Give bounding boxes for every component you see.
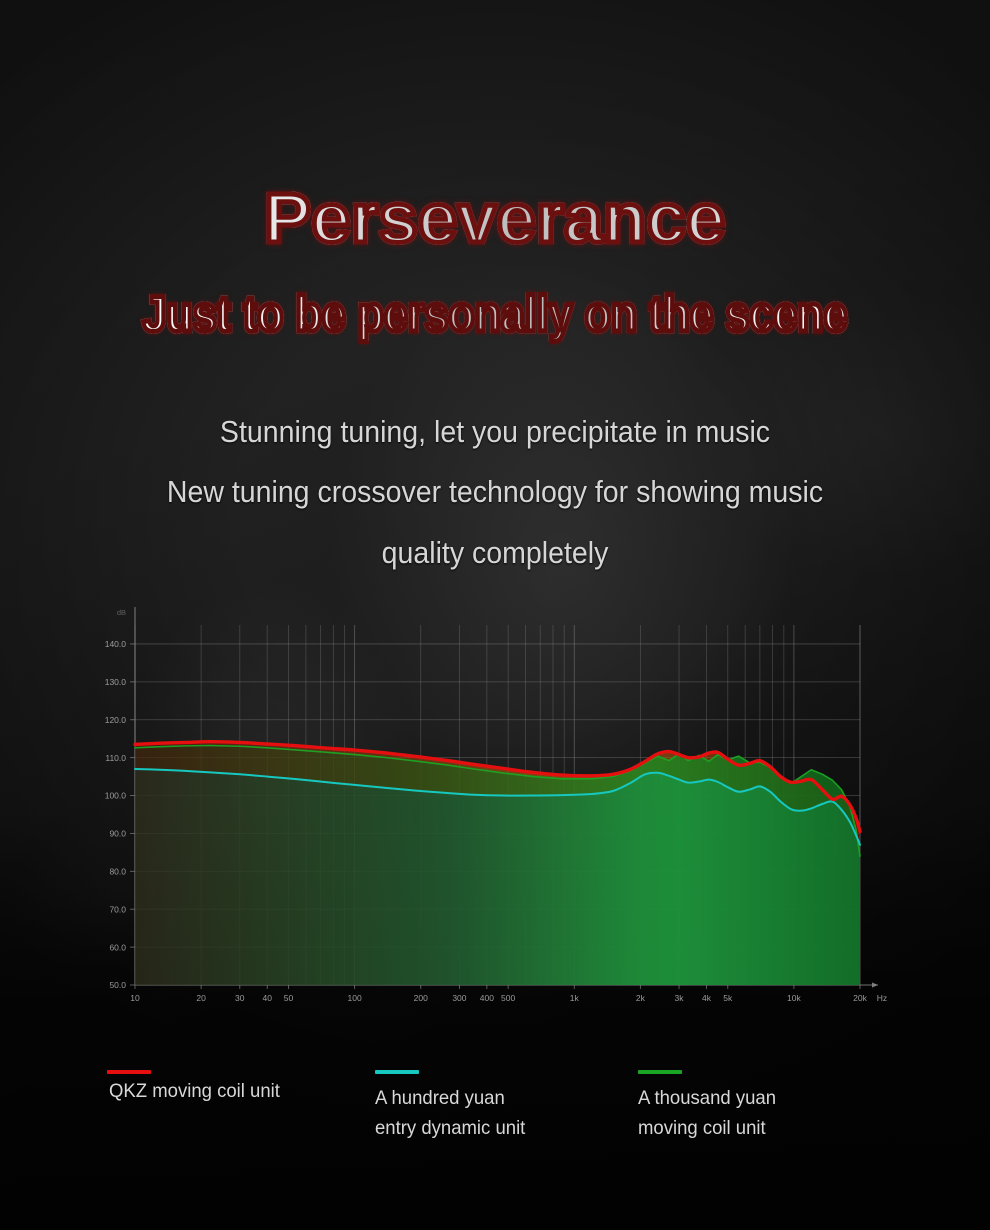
legend-swatch-red [107, 1070, 151, 1074]
svg-text:400: 400 [480, 993, 494, 1003]
legend-item-qkz-moving-coil-unit: QKZ moving coil unit [107, 1070, 287, 1113]
svg-text:3k: 3k [675, 993, 685, 1003]
svg-text:500: 500 [501, 993, 515, 1003]
svg-text:10k: 10k [787, 993, 801, 1003]
svg-text:5k: 5k [723, 993, 733, 1003]
frequency-response-svg: 140.0130.0120.0110.0100.090.080.070.060.… [95, 588, 895, 1043]
legend-swatch-cyan [375, 1070, 419, 1074]
svg-text:130.0: 130.0 [105, 677, 127, 687]
svg-text:90.0: 90.0 [109, 829, 126, 839]
svg-text:40: 40 [262, 993, 272, 1003]
chart-legend: QKZ moving coil unit A hundred yuan entr… [95, 1065, 955, 1185]
svg-text:120.0: 120.0 [105, 715, 127, 725]
svg-text:100.0: 100.0 [105, 791, 127, 801]
svg-text:20k: 20k [853, 993, 867, 1003]
svg-text:110.0: 110.0 [105, 753, 126, 763]
svg-text:140.0: 140.0 [105, 639, 127, 649]
product-marketing-page: { "hero": { "title": "Perseverance", "su… [0, 0, 990, 1230]
description-line-2: New tuning crossover technology for show… [40, 462, 951, 522]
legend-label-qkz: QKZ moving coil unit [109, 1076, 280, 1106]
svg-text:10: 10 [130, 993, 140, 1003]
svg-text:50.0: 50.0 [109, 980, 126, 990]
svg-text:200: 200 [414, 993, 428, 1003]
svg-text:4k: 4k [702, 993, 712, 1003]
legend-swatch-green [638, 1070, 682, 1074]
svg-text:60.0: 60.0 [109, 942, 126, 952]
legend-item-thousand-yuan-moving-coil-unit: A thousand yuan moving coil unit [638, 1070, 783, 1143]
description-line-1: Stunning tuning, let you precipitate in … [40, 402, 951, 462]
svg-text:1k: 1k [570, 993, 580, 1003]
page-subtitle: Just to be personally on the scene [69, 288, 920, 341]
legend-item-hundred-yuan-entry-dynamic-unit: A hundred yuan entry dynamic unit [375, 1070, 533, 1143]
svg-text:50: 50 [284, 993, 294, 1003]
page-title: Perseverance [0, 183, 990, 253]
legend-label-hundred-yuan: A hundred yuan entry dynamic unit [375, 1083, 525, 1143]
svg-text:100: 100 [348, 993, 362, 1003]
svg-text:80.0: 80.0 [109, 867, 126, 877]
svg-text:2k: 2k [636, 993, 646, 1003]
svg-text:dB: dB [117, 608, 126, 617]
frequency-response-chart: 140.0130.0120.0110.0100.090.080.070.060.… [95, 588, 895, 1043]
svg-text:300: 300 [452, 993, 466, 1003]
svg-text:20: 20 [196, 993, 206, 1003]
svg-text:70.0: 70.0 [109, 904, 126, 914]
svg-text:30: 30 [235, 993, 245, 1003]
legend-label-thousand-yuan: A thousand yuan moving coil unit [638, 1083, 776, 1143]
page-description: Stunning tuning, let you precipitate in … [40, 402, 951, 583]
description-line-3: quality completely [40, 523, 951, 583]
svg-text:Hz: Hz [877, 993, 887, 1003]
